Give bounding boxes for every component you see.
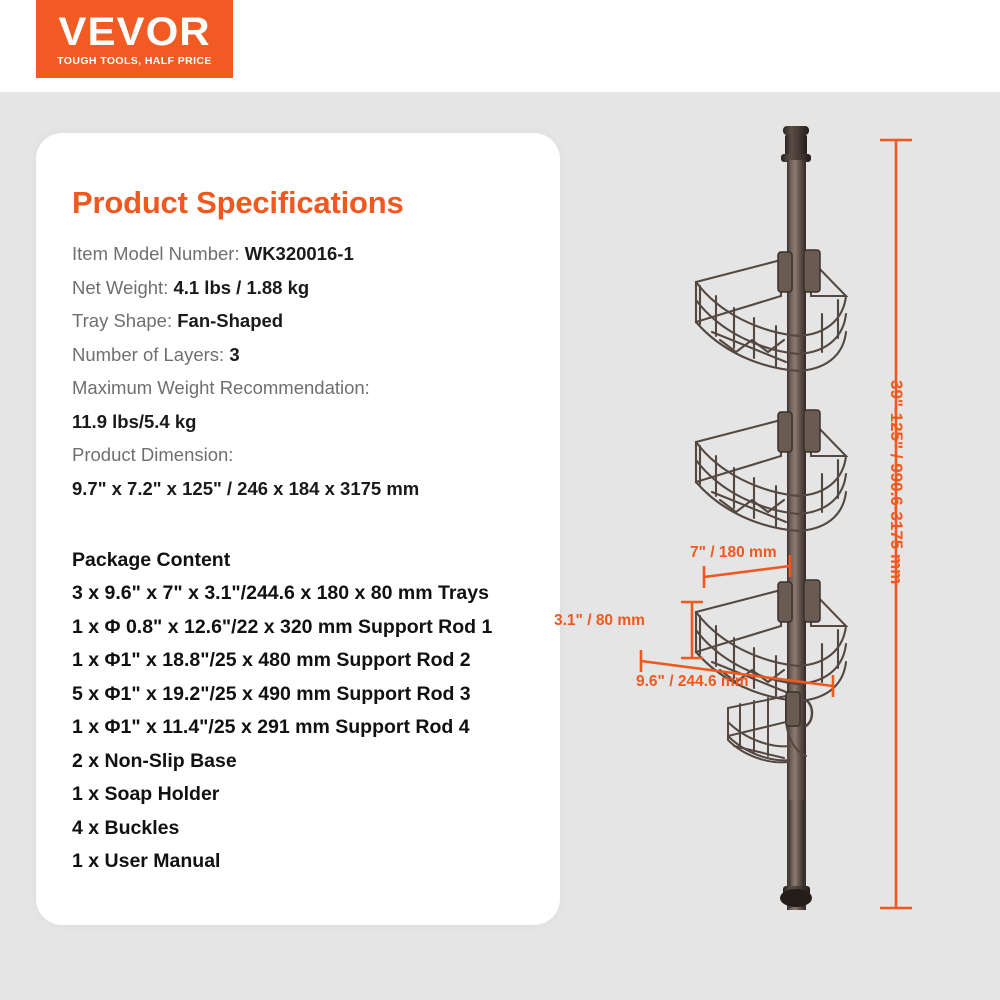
- dimension-label-tray-width-top: 7" / 180 mm: [690, 544, 777, 562]
- spec-row-max-weight-value: 11.9 lbs/5.4 kg: [72, 405, 542, 439]
- specifications-card: Product Specifications Item Model Number…: [36, 133, 560, 925]
- spec-value-layers: 3: [229, 344, 239, 365]
- list-item: 1 x Φ 0.8" x 12.6"/22 x 320 mm Support R…: [72, 611, 552, 645]
- spec-row-layers: Number of Layers: 3: [72, 338, 542, 372]
- spec-label-model: Item Model Number:: [72, 243, 240, 264]
- dimension-label-total-height: 39"-125" / 990.6-3175 mm: [886, 380, 906, 584]
- list-item: 5 x Φ1" x 19.2"/25 x 490 mm Support Rod …: [72, 678, 552, 712]
- dimension-label-tray-width-bottom: 9.6" / 244.6 mm: [636, 673, 748, 691]
- spec-row-model: Item Model Number: WK320016-1: [72, 237, 542, 271]
- spec-label-tray-shape: Tray Shape:: [72, 310, 172, 331]
- package-content-section: Package Content 3 x 9.6" x 7" x 3.1"/244…: [72, 543, 552, 879]
- spec-row-product-dimension-label: Product Dimension:: [72, 438, 542, 472]
- spec-value-tray-shape: Fan-Shaped: [177, 310, 283, 331]
- brand-logo: VEVOR TOUGH TOOLS, HALF PRICE: [36, 0, 233, 78]
- spec-label-product-dimension: Product Dimension:: [72, 444, 233, 465]
- spec-value-model: WK320016-1: [245, 243, 354, 264]
- package-content-heading: Package Content: [72, 543, 552, 577]
- list-item: 4 x Buckles: [72, 812, 552, 846]
- brand-wordmark: VEVOR: [58, 12, 210, 52]
- list-item: 2 x Non-Slip Base: [72, 745, 552, 779]
- product-illustration: [600, 100, 1000, 980]
- support-pole: [780, 126, 812, 910]
- specifications-list: Item Model Number: WK320016-1 Net Weight…: [72, 237, 542, 505]
- list-item: 1 x Φ1" x 11.4"/25 x 291 mm Support Rod …: [72, 711, 552, 745]
- list-item: 1 x User Manual: [72, 845, 552, 879]
- list-item: 3 x 9.6" x 7" x 3.1"/244.6 x 180 x 80 mm…: [72, 577, 552, 611]
- wire-basket-2: [696, 410, 846, 531]
- list-item: 1 x Φ1" x 18.8"/25 x 480 mm Support Rod …: [72, 644, 552, 678]
- spec-label-layers: Number of Layers:: [72, 344, 224, 365]
- spec-value-net-weight: 4.1 lbs / 1.88 kg: [173, 277, 309, 298]
- list-item: 1 x Soap Holder: [72, 778, 552, 812]
- dimension-label-tray-depth: 3.1" / 80 mm: [554, 612, 645, 630]
- header-band: VEVOR TOUGH TOOLS, HALF PRICE: [0, 0, 1000, 92]
- spec-row-max-weight-label: Maximum Weight Recommendation:: [72, 371, 542, 405]
- spec-row-net-weight: Net Weight: 4.1 lbs / 1.88 kg: [72, 271, 542, 305]
- spec-label-net-weight: Net Weight:: [72, 277, 168, 298]
- page-title: Product Specifications: [72, 185, 404, 221]
- spec-row-product-dimension-value: 9.7" x 7.2" x 125" / 246 x 184 x 3175 mm: [72, 472, 542, 506]
- spec-label-max-weight: Maximum Weight Recommendation:: [72, 377, 370, 398]
- spec-row-tray-shape: Tray Shape: Fan-Shaped: [72, 304, 542, 338]
- brand-tagline: TOUGH TOOLS, HALF PRICE: [57, 56, 212, 67]
- wire-basket-1: [696, 250, 846, 371]
